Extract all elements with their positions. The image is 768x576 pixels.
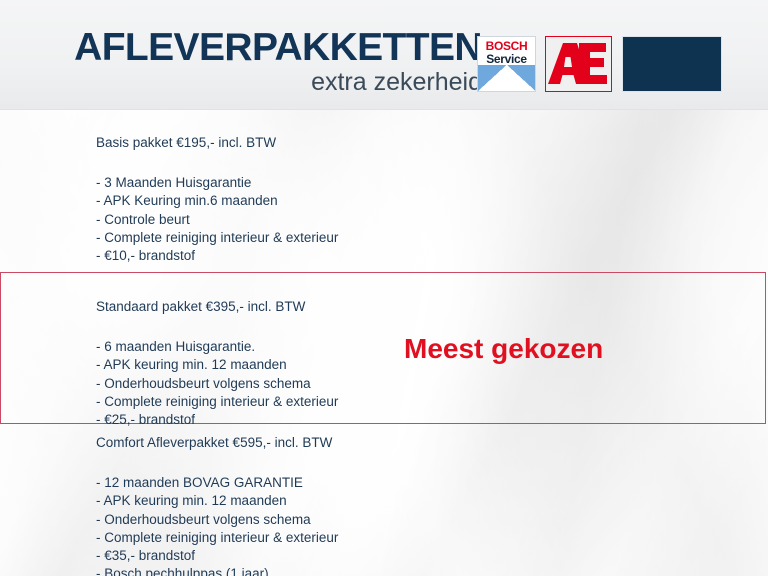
ae-logo	[545, 36, 612, 92]
list-item: - APK keuring min. 12 maanden	[96, 492, 716, 510]
header-band: AFLEVERPAKKETTEN extra zekerheid BOSCH S…	[0, 0, 768, 110]
list-item: - Complete reiniging interieur & exterie…	[96, 229, 716, 247]
navy-block-logo	[622, 36, 722, 92]
list-item: - Onderhoudsbeurt volgens schema	[96, 375, 716, 393]
package-standaard-title: Standaard pakket €395,- incl. BTW	[96, 298, 716, 316]
list-item: - APK Keuring min.6 maanden	[96, 192, 716, 210]
page-subtitle: extra zekerheid	[62, 70, 482, 95]
bosch-service-text: Service	[478, 53, 535, 66]
bosch-armature-icon	[500, 71, 513, 84]
list-item: - €25,- brandstof	[96, 411, 716, 429]
list-item: - €10,- brandstof	[96, 247, 716, 265]
afleverpakketten-slide: AFLEVERPAKKETTEN extra zekerheid BOSCH S…	[0, 0, 768, 576]
package-basis: Basis pakket €195,- incl. BTW - 3 Maande…	[96, 134, 716, 265]
list-item: - 3 Maanden Huisgarantie	[96, 174, 716, 192]
bosch-wordmark: BOSCH	[478, 40, 535, 53]
page-title: AFLEVERPAKKETTEN	[62, 28, 482, 67]
ae-monogram-icon	[546, 37, 610, 90]
list-item: - Onderhoudsbeurt volgens schema	[96, 511, 716, 529]
list-item: - Complete reiniging interieur & exterie…	[96, 393, 716, 411]
package-basis-features: - 3 Maanden Huisgarantie - APK Keuring m…	[96, 174, 716, 265]
package-comfort-title: Comfort Afleverpakket €595,- incl. BTW	[96, 434, 716, 452]
list-item: - 12 maanden BOVAG GARANTIE	[96, 474, 716, 492]
list-item: - Complete reiniging interieur & exterie…	[96, 529, 716, 547]
package-comfort: Comfort Afleverpakket €595,- incl. BTW -…	[96, 434, 716, 576]
most-chosen-badge: Meest gekozen	[404, 335, 603, 363]
package-basis-title: Basis pakket €195,- incl. BTW	[96, 134, 716, 152]
list-item: - €35,- brandstof	[96, 547, 716, 565]
list-item: - Controle beurt	[96, 211, 716, 229]
package-comfort-features: - 12 maanden BOVAG GARANTIE - APK keurin…	[96, 474, 716, 576]
list-item: - Bosch pechhulppas (1 jaar)	[96, 565, 716, 576]
header-inner: AFLEVERPAKKETTEN extra zekerheid BOSCH S…	[0, 0, 768, 109]
bosch-service-logo: BOSCH Service	[477, 36, 536, 92]
